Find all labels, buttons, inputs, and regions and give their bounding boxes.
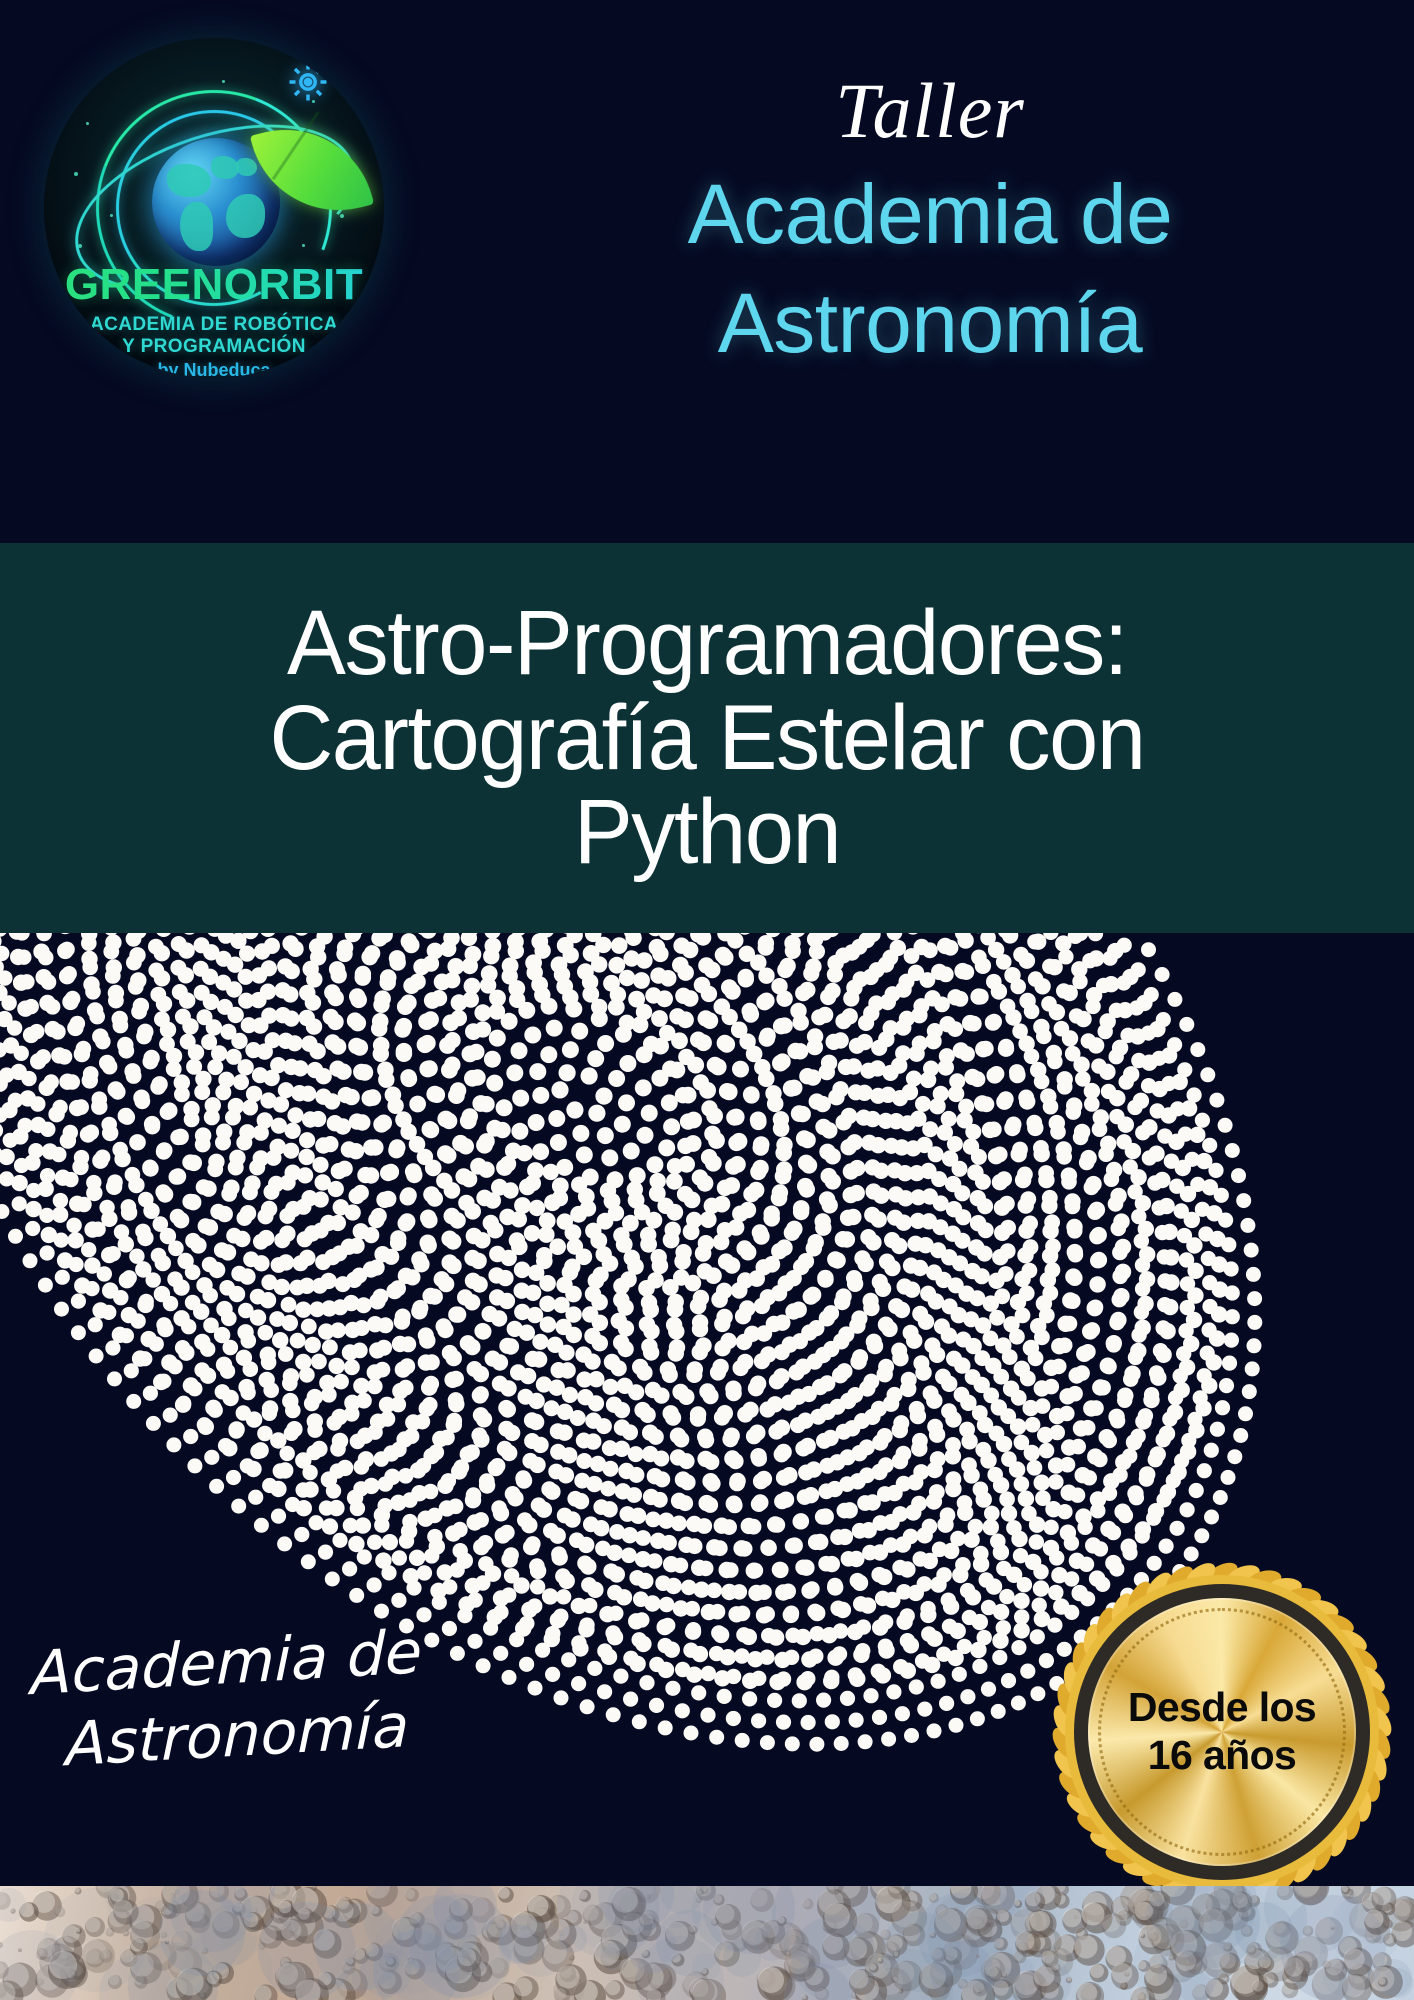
workshop-title: Astro-Programadores: Cartografía Estelar…	[69, 596, 1346, 880]
header-title-line2: Astronomía	[718, 276, 1143, 370]
logo-subtitle: ACADEMIA DE ROBÓTICA Y PROGRAMACIÓN	[44, 314, 384, 359]
poster-root: GREENORBIT ACADEMIA DE ROBÓTICA Y PROGRA…	[0, 0, 1414, 2000]
header-title: Academia de Astronomía	[460, 160, 1400, 378]
header-title-line1: Academia de	[688, 167, 1173, 261]
logo-subtitle-line2: Y PROGRAMACIÓN	[122, 336, 306, 357]
greenorbit-logo: GREENORBIT ACADEMIA DE ROBÓTICA Y PROGRA…	[44, 38, 384, 378]
badge-label-line1: Desde los	[1128, 1684, 1316, 1732]
gear-icon	[286, 60, 330, 104]
badge-label: Desde los 16 años	[1088, 1598, 1356, 1866]
badge-label-line2: 16 años	[1148, 1732, 1297, 1780]
workshop-title-line2: Cartografía Estelar con	[269, 687, 1144, 789]
logo-brand-name: GREENORBIT	[44, 260, 384, 310]
logo-subtitle-line1: ACADEMIA DE ROBÓTICA	[90, 314, 338, 335]
age-badge: Desde los 16 años	[1042, 1552, 1402, 1912]
header-section: GREENORBIT ACADEMIA DE ROBÓTICA Y PROGRA…	[0, 0, 1414, 543]
logo-byline: by Nubeduca	[44, 360, 384, 378]
workshop-title-line1: Astro-Programadores:	[287, 592, 1127, 694]
lunar-surface-image	[0, 1886, 1414, 2000]
workshop-title-line3: Python	[574, 781, 840, 883]
title-band: Astro-Programadores: Cartografía Estelar…	[0, 543, 1414, 933]
moon-craters-svg	[0, 1886, 1414, 2000]
academy-signature: Academia de Astronomía	[29, 1612, 500, 1785]
header-kicker: Taller	[460, 70, 1400, 152]
